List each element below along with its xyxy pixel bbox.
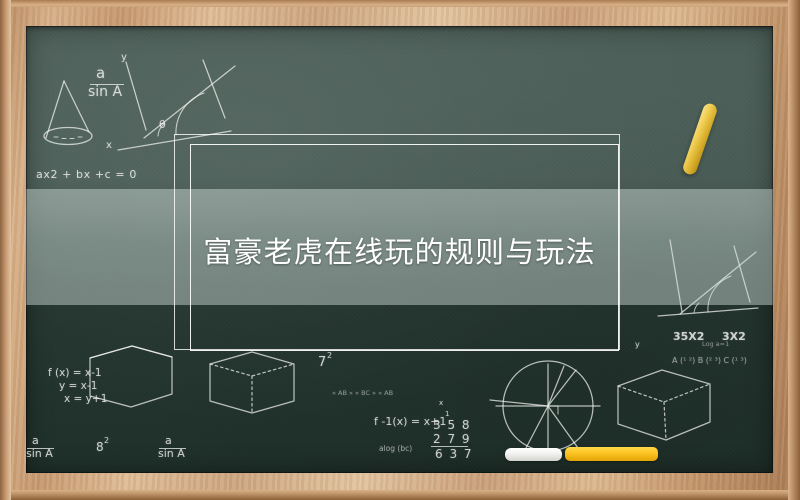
- cube-wireframe-right: [618, 370, 710, 440]
- chalk-log-label: Log a=1: [702, 340, 729, 348]
- chalk-matrix-row: A (¹ ²) B (² ³) C (¹ ³): [672, 356, 747, 365]
- chalk-axis-y-label: y: [121, 52, 127, 63]
- chalk-fraction-bar-2: [27, 448, 54, 449]
- yellow-chalk-stick[interactable]: [565, 447, 658, 461]
- chalk-function-y: y = x-1: [59, 380, 97, 392]
- chalk-vector-sum: « AB » « BC » « AB: [332, 389, 393, 397]
- chalk-inverse-function: f -1(x) = x+1: [374, 415, 446, 428]
- chalk-eight-exponent: 2: [104, 436, 109, 445]
- chalk-angle-theta-label: θ: [159, 118, 166, 131]
- cube-wireframe-left: [90, 346, 294, 413]
- chalk-log-expression: alog (bc): [379, 444, 412, 453]
- page-title: 富豪老虎在线玩的规则与玩法: [203, 229, 596, 271]
- frame-top-edge: [0, 0, 800, 7]
- frame-left-edge: [0, 0, 11, 500]
- chalk-law-of-sines-numerator: a: [96, 64, 105, 82]
- chalkboard: a sin A y x θ ax2 + bx +c = 0 f (x) = x-…: [26, 26, 773, 473]
- chalk-law-of-sines-denominator: sin A: [88, 84, 122, 100]
- frame-bottom-edge: [0, 490, 800, 500]
- white-chalk-stick[interactable]: [505, 448, 562, 461]
- angle-axes-diagram: [118, 60, 235, 150]
- chalk-digit-one: 1: [445, 410, 449, 418]
- chalk-digits-row-3: 6 3 7: [435, 447, 473, 461]
- chalk-digits-row-2: 2 7 9: [433, 432, 471, 446]
- chalk-digits-divider: [431, 446, 468, 447]
- circle-sector-diagram: [490, 361, 600, 451]
- chalk-law-of-sines-3-numerator: a: [165, 434, 172, 447]
- screenshot-root: a sin A y x θ ax2 + bx +c = 0 f (x) = x-…: [0, 0, 800, 500]
- chalk-fraction-bar: [90, 84, 124, 85]
- chalk-digits-row-1: 3 5 8: [433, 418, 471, 432]
- chalk-seven-base: 7: [318, 355, 326, 370]
- chalk-law-of-sines-2-numerator: a: [32, 434, 39, 447]
- chalk-fraction-bar-3: [159, 448, 186, 449]
- chalk-law-of-sines-2-denominator: sin A: [26, 447, 53, 460]
- frame-right-edge: [788, 0, 800, 500]
- chalk-digit-x: x: [439, 399, 443, 407]
- chalk-axis-x-label: x: [106, 140, 112, 151]
- chalk-mult-3x2: 3X2: [722, 330, 746, 343]
- chalk-seven-exponent: 2: [327, 351, 332, 360]
- chalk-quadratic-equation: ax2 + bx +c = 0: [36, 168, 137, 181]
- chalk-function-fx: f (x) = x-1: [48, 367, 102, 379]
- chalk-eight-base: 8: [96, 440, 104, 454]
- chalk-law-of-sines-3-denominator: sin A: [158, 447, 185, 460]
- chalk-axis-y-label-2: y: [635, 340, 640, 349]
- chalk-mult-35x2: 35X2: [673, 330, 704, 343]
- cone-diagram: [44, 81, 92, 145]
- chalk-function-x: x = y+1: [64, 393, 107, 405]
- tilted-yellow-chalk[interactable]: [681, 102, 718, 177]
- title-container: 富豪老虎在线玩的规则与玩法: [26, 220, 773, 280]
